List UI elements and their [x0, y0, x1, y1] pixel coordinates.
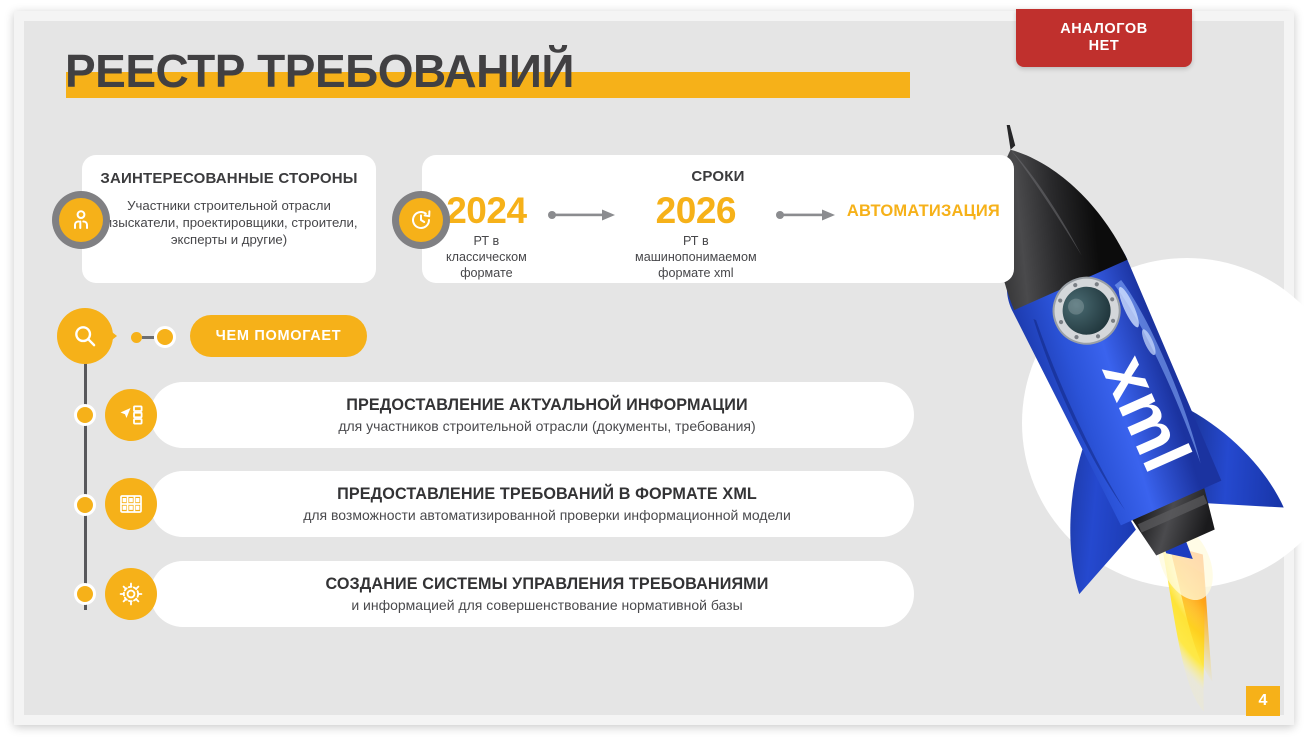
- status-badge-no-analogs: АНАЛОГОВ НЕТ: [1016, 9, 1192, 67]
- stakeholders-heading: ЗАИНТЕРЕСОВАННЫЕ СТОРОНЫ: [82, 169, 376, 188]
- benefit-subtitle: и информацией для совершенствование норм…: [325, 596, 768, 615]
- stakeholders-body: Участники строительной отрасли (изыскате…: [82, 197, 376, 248]
- benefit-text: ПРЕДОСТАВЛЕНИЕ ТРЕБОВАНИЙ В ФОРМАТЕ XML …: [273, 484, 791, 525]
- timeline-caption: РТ в классическом формате: [436, 233, 537, 281]
- card-stakeholders: ЗАИНТЕРЕСОВАННЫЕ СТОРОНЫ Участники строи…: [82, 155, 376, 283]
- arrow-right-icon-2: [775, 208, 837, 227]
- timeline-year-value: 2024: [436, 190, 537, 232]
- timeline-step-2026: 2026 РТ в машинопонимаемом формате xml: [627, 190, 765, 281]
- pill-label: ЧЕМ ПОМОГАЕТ: [216, 328, 342, 344]
- table-grid-icon: [105, 478, 157, 530]
- connector-dot-small: [131, 332, 142, 343]
- timeline-vertical-line: [84, 360, 87, 610]
- benefit-subtitle: для возможности автоматизированной прове…: [303, 506, 791, 525]
- card-terms: СРОКИ 2024 РТ в классическом формате 202…: [422, 155, 1014, 283]
- search-icon: [57, 308, 113, 364]
- benefit-title: СОЗДАНИЕ СИСТЕМЫ УПРАВЛЕНИЯ ТРЕБОВАНИЯМИ: [325, 574, 768, 595]
- benefit-subtitle: для участников строительной отрасли (док…: [338, 417, 755, 436]
- badge-line-1: АНАЛОГОВ: [1060, 21, 1148, 38]
- timeline-node-3: [74, 583, 96, 605]
- timeline-automation-label: АВТОМАТИЗАЦИЯ: [847, 190, 1000, 232]
- benefit-row: СОЗДАНИЕ СИСТЕМЫ УПРАВЛЕНИЯ ТРЕБОВАНИЯМИ…: [150, 561, 914, 627]
- clock-history-icon-ring: [392, 191, 450, 249]
- timeline-year-value: 2026: [627, 190, 765, 232]
- timeline-node-2: [74, 494, 96, 516]
- pill-connector: [131, 326, 183, 348]
- terms-timeline: 2024 РТ в классическом формате 2026 РТ в…: [422, 190, 1014, 281]
- clock-history-icon: [399, 198, 443, 242]
- timeline-step-2024: 2024 РТ в классическом формате: [436, 190, 537, 281]
- connector-dot-large: [154, 326, 176, 348]
- page-title: РЕЕСТР ТРЕБОВАНИЙ: [65, 44, 574, 98]
- badge-line-2: НЕТ: [1089, 38, 1120, 55]
- pill-chem-pomogaet[interactable]: ЧЕМ ПОМОГАЕТ: [190, 315, 367, 357]
- send-list-icon: [105, 389, 157, 441]
- benefit-row: ПРЕДОСТАВЛЕНИЕ АКТУАЛЬНОЙ ИНФОРМАЦИИ для…: [150, 382, 914, 448]
- arrow-right-icon-1: [547, 208, 617, 227]
- benefit-text: СОЗДАНИЕ СИСТЕМЫ УПРАВЛЕНИЯ ТРЕБОВАНИЯМИ…: [295, 574, 768, 615]
- benefit-title: ПРЕДОСТАВЛЕНИЕ АКТУАЛЬНОЙ ИНФОРМАЦИИ: [338, 395, 755, 416]
- people-icon: [59, 198, 103, 242]
- benefit-row: ПРЕДОСТАВЛЕНИЕ ТРЕБОВАНИЙ В ФОРМАТЕ XML …: [150, 471, 914, 537]
- people-icon-ring: [52, 191, 110, 249]
- benefit-title: ПРЕДОСТАВЛЕНИЕ ТРЕБОВАНИЙ В ФОРМАТЕ XML: [303, 484, 791, 505]
- search-pin: [57, 308, 113, 364]
- timeline-node-1: [74, 404, 96, 426]
- benefit-text: ПРЕДОСТАВЛЕНИЕ АКТУАЛЬНОЙ ИНФОРМАЦИИ для…: [308, 395, 755, 436]
- terms-heading: СРОКИ: [422, 167, 1014, 186]
- timeline-caption: РТ в машинопонимаемом формате xml: [627, 233, 765, 281]
- page-number: 4: [1246, 686, 1280, 716]
- connector-line: [142, 336, 154, 339]
- timeline-step-automation: АВТОМАТИЗАЦИЯ: [847, 190, 1000, 232]
- slide-root: АНАЛОГОВ НЕТ РЕЕСТР ТРЕБОВАНИЙ: [0, 0, 1308, 740]
- gear-icon: [105, 568, 157, 620]
